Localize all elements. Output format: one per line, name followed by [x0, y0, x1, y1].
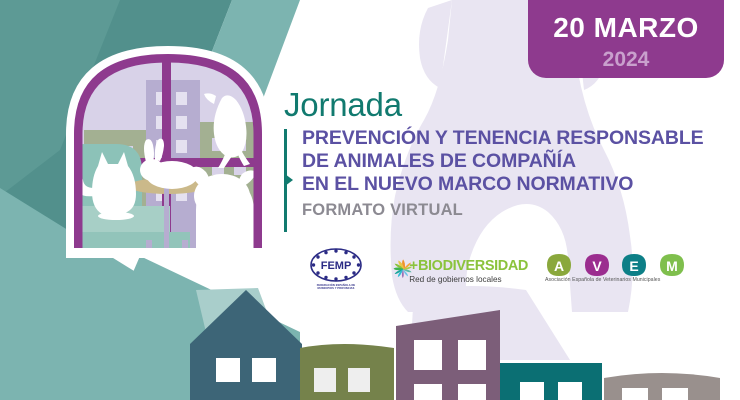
- format-label: FORMATO VIRTUAL: [302, 201, 724, 221]
- biodiversidad-tagline: Red de gobiernos locales: [409, 276, 528, 284]
- femp-acronym: FEMP: [321, 260, 352, 272]
- logo-biodiversidad: + BIODIVERSIDAD Red de gobiernos locales: [393, 250, 528, 292]
- building-house-olive: [300, 344, 394, 400]
- date-badge: 20 MARZO 2024: [528, 0, 724, 78]
- building-house-blue: [190, 290, 302, 400]
- biodiversidad-wordmark: BIODIVERSIDAD: [418, 259, 528, 274]
- page-title-line-2: DE ANIMALES DE COMPAÑÍA: [302, 150, 724, 173]
- building-block-grey: [604, 373, 720, 400]
- femp-caption-line-2: MUNICIPIOS Y PROVINCIAS: [305, 287, 367, 290]
- page-title-line-1: PREVENCIÓN Y TENENCIA RESPONSABLE: [302, 127, 724, 150]
- avem-letter-v: V: [592, 258, 602, 274]
- logo-femp: FEMP FEDERACIÓN ESPAÑOLA DE MUNICIPIOS Y…: [305, 248, 367, 292]
- avem-letter-e: E: [629, 258, 638, 274]
- avem-letter-a: A: [554, 258, 564, 274]
- avem-marks-icon: A V E M: [545, 252, 691, 278]
- building-block-teal: [500, 363, 602, 400]
- biodiversidad-plus: +: [409, 258, 418, 273]
- avem-caption: Asociación Española de Veterinarios Muni…: [545, 278, 691, 283]
- logo-avem: A V E M Asociación Española de Veterinar…: [545, 252, 691, 290]
- date-year: 2024: [603, 49, 650, 70]
- page-title-line-3: EN EL NUEVO MARCO NORMATIVO: [302, 173, 724, 196]
- title-group: PREVENCIÓN Y TENENCIA RESPONSABLE DE ANI…: [284, 127, 724, 221]
- femp-emblem-icon: FEMP: [305, 248, 367, 284]
- avem-letter-m: M: [666, 258, 678, 274]
- title-arrow-icon: [285, 174, 293, 186]
- eyebrow-jornada: Jornada: [284, 88, 724, 121]
- logo-row: FEMP FEDERACIÓN ESPAÑOLA DE MUNICIPIOS Y…: [305, 248, 705, 294]
- building-tower-purple: [396, 310, 500, 400]
- header-text-block: Jornada PREVENCIÓN Y TENENCIA RESPONSABL…: [284, 88, 724, 221]
- poster-canvas: 20 MARZO 2024 Jornada PREVENCIÓN Y TENEN…: [0, 0, 740, 400]
- date-day: 20 MARZO: [553, 14, 699, 42]
